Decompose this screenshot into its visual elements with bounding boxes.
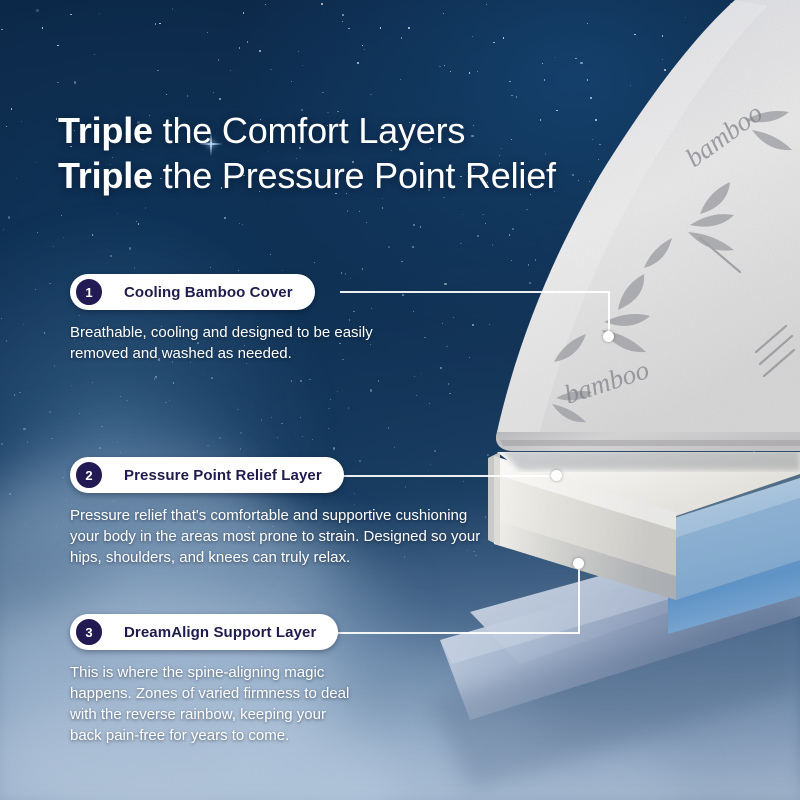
- callout-3-title: DreamAlign Support Layer: [124, 624, 316, 641]
- callout-1-pill[interactable]: 1 Cooling Bamboo Cover: [70, 274, 315, 310]
- callout-1-body: Breathable, cooling and designed to be e…: [70, 322, 400, 364]
- callout-2-body: Pressure relief that's comfortable and s…: [70, 505, 482, 568]
- callout-1-badge: 1: [74, 277, 104, 307]
- callout-2-badge: 2: [74, 460, 104, 490]
- callout-3-badge: 3: [74, 617, 104, 647]
- callout-3-pill[interactable]: 3 DreamAlign Support Layer: [70, 614, 338, 650]
- page-title: Triple the Comfort Layers Triple the Pre…: [58, 108, 658, 198]
- callout-2-title: Pressure Point Relief Layer: [124, 467, 322, 484]
- callout-3: 3 DreamAlign Support Layer This is where…: [70, 614, 470, 746]
- headline-line1-rest: the Comfort Layers: [153, 110, 465, 151]
- callout-2: 2 Pressure Point Relief Layer Pressure r…: [70, 457, 510, 568]
- callout-1: 1 Cooling Bamboo Cover Breathable, cooli…: [70, 274, 480, 364]
- cover-shadow: [500, 450, 800, 470]
- callout-1-title: Cooling Bamboo Cover: [124, 284, 293, 301]
- headline-line2-strong: Triple: [58, 155, 153, 196]
- callout-2-pill[interactable]: 2 Pressure Point Relief Layer: [70, 457, 344, 493]
- headline-line2-rest: the Pressure Point Relief: [153, 155, 556, 196]
- headline-line1-strong: Triple: [58, 110, 153, 151]
- bamboo-cover-layer-shape: bamboo bamboo: [480, 0, 800, 451]
- callout-3-body: This is where the spine-aligning magic h…: [70, 662, 355, 746]
- infographic-canvas: bamboo bamboo Triple the Comfort Layers …: [0, 0, 800, 800]
